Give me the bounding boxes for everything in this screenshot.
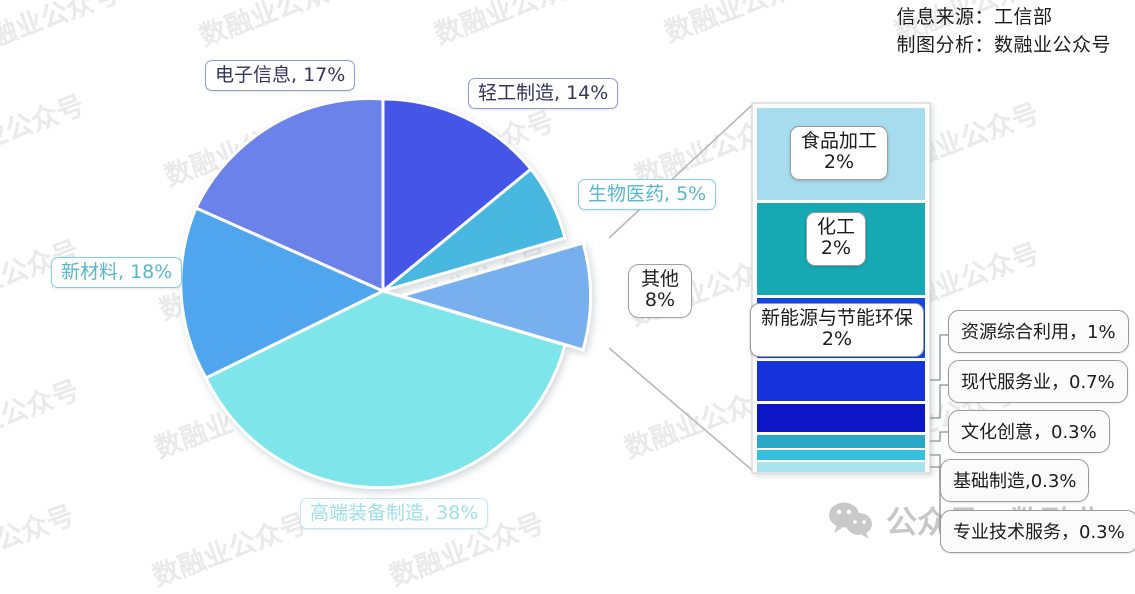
side-label-resource-utilization[interactable]: 资源综合利用，1% — [948, 310, 1129, 353]
bar-side-connectors — [930, 335, 948, 533]
pie-label-electronic-information[interactable]: 电子信息, 17% — [205, 60, 355, 91]
pie-label-new-materials[interactable]: 新材料, 18% — [51, 257, 182, 288]
bar-label-chemical-value: 2% — [817, 238, 855, 259]
bar-label-food-processing-value: 2% — [801, 152, 877, 173]
side-label-professional-services[interactable]: 专业技术服务，0.3% — [940, 510, 1135, 553]
bar-segment-professional-services[interactable] — [757, 462, 925, 472]
bar-label-food-processing[interactable]: 食品加工 2% — [790, 126, 888, 180]
bar-segment-resource-utilization[interactable] — [757, 361, 925, 401]
bar-segment-cultural-creative[interactable] — [757, 435, 925, 448]
source-note: 信息来源：工信部 制图分析：数融业公众号 — [896, 4, 1111, 59]
pie-slices — [181, 99, 591, 488]
side-label-basic-manufacturing[interactable]: 基础制造,0.3% — [940, 459, 1089, 502]
pie-label-high-end-equipment[interactable]: 高端装备制造, 38% — [300, 498, 488, 529]
bar-label-chemical-name: 化工 — [817, 217, 855, 238]
pie-label-biomedicine[interactable]: 生物医药, 5% — [578, 179, 716, 210]
chart-canvas: 数融业公众号 数融业公众号 数融业公众号 数融业公众号 数融业公众号 数融业公众… — [0, 0, 1135, 568]
bar-label-new-energy[interactable]: 新能源与节能环保 2% — [750, 303, 924, 357]
bar-segment-basic-manufacturing[interactable] — [757, 450, 925, 460]
pie-label-other-name: 其他 — [641, 269, 679, 290]
pie-label-light-manufacturing[interactable]: 轻工制造, 14% — [468, 78, 618, 109]
side-label-modern-services[interactable]: 现代服务业，0.7% — [948, 360, 1128, 403]
bar-label-new-energy-name: 新能源与节能环保 — [761, 308, 913, 329]
bar-label-food-processing-name: 食品加工 — [801, 131, 877, 152]
side-label-cultural-creative[interactable]: 文化创意，0.3% — [948, 410, 1110, 453]
bar-label-new-energy-value: 2% — [761, 329, 913, 350]
pie-label-other-value: 8% — [641, 290, 679, 311]
source-line-1: 信息来源：工信部 — [896, 4, 1111, 32]
bar-segment-modern-services[interactable] — [757, 404, 925, 432]
pie-label-other[interactable]: 其他 8% — [628, 264, 692, 318]
bar-label-chemical[interactable]: 化工 2% — [806, 212, 866, 266]
source-line-2: 制图分析：数融业公众号 — [896, 32, 1111, 60]
